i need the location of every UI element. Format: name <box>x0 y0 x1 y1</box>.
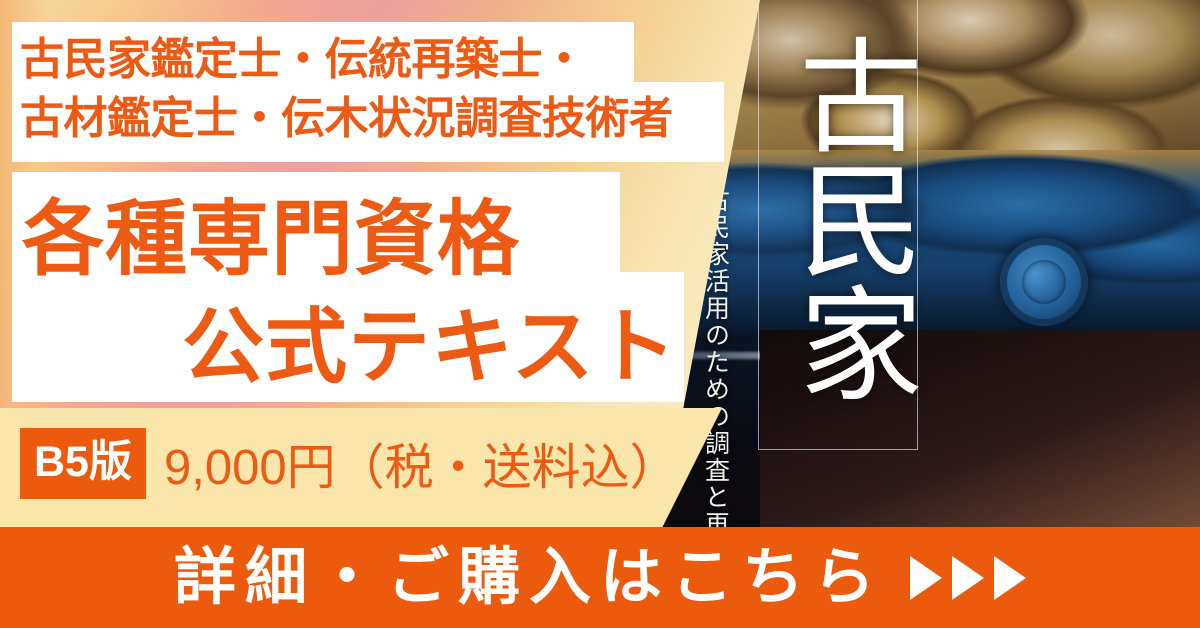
cta-bar[interactable]: 詳細・ご購入はこちら <box>0 527 1200 628</box>
price-amount: 9,000円（税・送料込） <box>164 428 679 499</box>
promo-banner: 古民家 伝統構法、古民家活用のための調査と再生の 古民家鑑定士・伝統再築士・ 古… <box>0 0 1200 628</box>
format-badge: B5版 <box>20 428 146 499</box>
title-line-1: 各種専門資格 <box>22 186 686 294</box>
qualification-heading: 古民家鑑定士・伝統再築士・ 古材鑑定士・伝木状況調査技術者 <box>20 30 726 149</box>
title-line-2: 公式テキスト <box>22 294 686 402</box>
heading-line-2: 古材鑑定士・伝木状況調査技術者 <box>20 89 726 148</box>
chevron-right-icon <box>910 556 942 600</box>
price-row: B5版 9,000円（税・送料込） <box>20 428 679 499</box>
chevron-right-icon <box>994 556 1026 600</box>
cta-arrows <box>910 556 1026 600</box>
chevron-right-icon <box>952 556 984 600</box>
cta-label: 詳細・ご購入はこちら <box>174 547 884 609</box>
page-title: 各種専門資格 公式テキスト <box>22 186 686 402</box>
family-crest-medallion <box>1000 238 1088 326</box>
cover-title-text: 古民家 <box>762 8 914 428</box>
heading-line-1: 古民家鑑定士・伝統再築士・ <box>20 30 726 89</box>
